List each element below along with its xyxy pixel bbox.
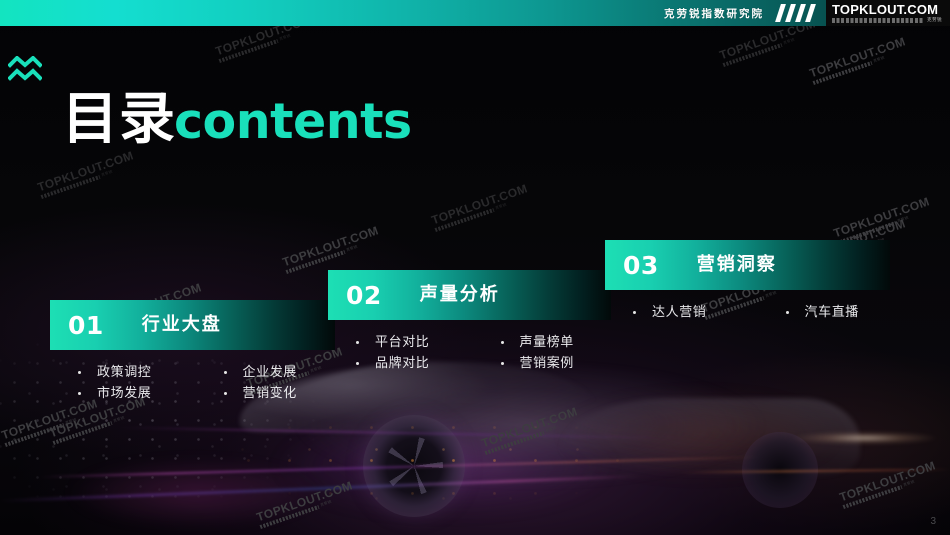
- bullet-dot-icon: [501, 341, 504, 344]
- list-item[interactable]: 达人营销: [633, 306, 738, 319]
- light-streak: [0, 475, 640, 503]
- slide-canvas: TOPKLOUT.COM 克劳锐 TOPKLOUT.COM 克劳锐 TOPKLO…: [0, 0, 950, 535]
- diagonal-slashes-icon: [774, 3, 818, 23]
- watermark: TOPKLOUT.COM 克劳锐: [430, 182, 531, 232]
- header-branding: 克劳锐指数研究院 TOPKLOUT.COM 克劳锐: [664, 0, 950, 26]
- watermark: TOPKLOUT.COM 克劳锐: [832, 195, 933, 245]
- watermark: TOPKLOUT.COM 克劳锐: [838, 459, 939, 509]
- section-number: 01: [68, 313, 104, 338]
- topklout-logo: TOPKLOUT.COM 克劳锐: [826, 0, 950, 26]
- watermark: TOPKLOUT.COM 克劳锐: [480, 405, 581, 455]
- watermark-bar: [484, 431, 544, 455]
- section-header-bar[interactable]: 02 声量分析: [328, 270, 611, 320]
- section-item-list: 政策调控 企业发展 市场发展 营销变化: [78, 366, 335, 400]
- watermark: TOPKLOUT.COM 克劳锐: [808, 35, 909, 85]
- ember-particles: [180, 400, 700, 520]
- car-front-wheel: [363, 415, 465, 517]
- watermark-bar: [40, 175, 100, 199]
- section-number: 02: [346, 283, 382, 308]
- car-headlight-glow: [770, 430, 950, 446]
- purple-glow: [230, 400, 660, 530]
- list-item[interactable]: 品牌对比: [356, 357, 467, 370]
- list-item[interactable]: 政策调控: [78, 366, 190, 379]
- light-streak: [40, 456, 760, 478]
- section-card-01[interactable]: 01 行业大盘 政策调控 企业发展 市场发展 营销变化: [50, 300, 335, 400]
- watermark-bar: [842, 485, 902, 509]
- list-item[interactable]: 营销变化: [224, 387, 336, 400]
- ember-glow: [520, 380, 880, 490]
- page-title-en: contents: [174, 93, 412, 150]
- watermark: TOPKLOUT.COM 克劳锐: [36, 149, 137, 199]
- list-item[interactable]: 平台对比: [356, 336, 467, 349]
- watermark-subbar: 克劳锐: [218, 26, 315, 63]
- bullet-dot-icon: [633, 311, 636, 314]
- list-item[interactable]: 企业发展: [224, 366, 336, 379]
- watermark-bar: [812, 61, 872, 85]
- watermark-bar: [4, 423, 64, 447]
- watermark-bar: [218, 39, 278, 63]
- section-title: 声量分析: [420, 286, 500, 304]
- watermark-bar: [434, 208, 494, 232]
- section-header-bar[interactable]: 03 营销洞察: [605, 240, 890, 290]
- list-item[interactable]: 汽车直播: [786, 306, 891, 319]
- list-item[interactable]: 营销案例: [501, 357, 612, 370]
- double-zigzag-icon: [8, 56, 42, 82]
- watermark: TOPKLOUT.COM 克劳锐: [0, 397, 101, 447]
- watermark: TOPKLOUT.COM 克劳锐: [255, 479, 356, 529]
- logo-subtitle: 克劳锐: [832, 17, 942, 23]
- car-rear-wheel: [742, 432, 818, 508]
- list-item[interactable]: 市场发展: [78, 387, 190, 400]
- watermark-bar: [52, 421, 112, 445]
- watermark-bar: [722, 43, 782, 67]
- section-title: 营销洞察: [697, 256, 777, 274]
- light-streak: [680, 469, 950, 474]
- section-number: 03: [623, 253, 659, 278]
- bullet-dot-icon: [356, 341, 359, 344]
- bullet-dot-icon: [78, 371, 81, 374]
- car-hood-silhouette: [560, 398, 860, 476]
- bullet-dot-icon: [224, 392, 227, 395]
- magenta-glow: [30, 448, 360, 535]
- light-streak: [120, 427, 680, 440]
- page-number: 3: [930, 516, 936, 527]
- section-header-bar[interactable]: 01 行业大盘: [50, 300, 335, 350]
- watermark-bar: [259, 505, 319, 529]
- logo-pattern-bar: [832, 18, 924, 23]
- watermark: TOPKLOUT.COM 克劳锐: [48, 395, 149, 445]
- bullet-dot-icon: [78, 392, 81, 395]
- watermark: TOPKLOUT.COM 克劳锐: [281, 224, 382, 274]
- logo-wordmark: TOPKLOUT.COM: [832, 3, 938, 16]
- section-item-list: 平台对比 声量榜单 品牌对比 营销案例: [356, 336, 611, 370]
- section-title: 行业大盘: [142, 316, 222, 334]
- bullet-dot-icon: [786, 311, 789, 314]
- bullet-dot-icon: [501, 362, 504, 365]
- page-title-cn: 目录: [62, 87, 176, 152]
- bullet-dot-icon: [356, 362, 359, 365]
- section-card-02[interactable]: 02 声量分析 平台对比 声量榜单 品牌对比 营销案例: [328, 270, 611, 370]
- page-title: 目录contents: [62, 92, 412, 148]
- institute-name: 克劳锐指数研究院: [664, 6, 764, 21]
- section-item-list: 达人营销 汽车直播: [633, 306, 890, 319]
- section-card-03[interactable]: 03 营销洞察 达人营销 汽车直播: [605, 240, 890, 319]
- list-item[interactable]: 声量榜单: [501, 336, 612, 349]
- bullet-dot-icon: [224, 371, 227, 374]
